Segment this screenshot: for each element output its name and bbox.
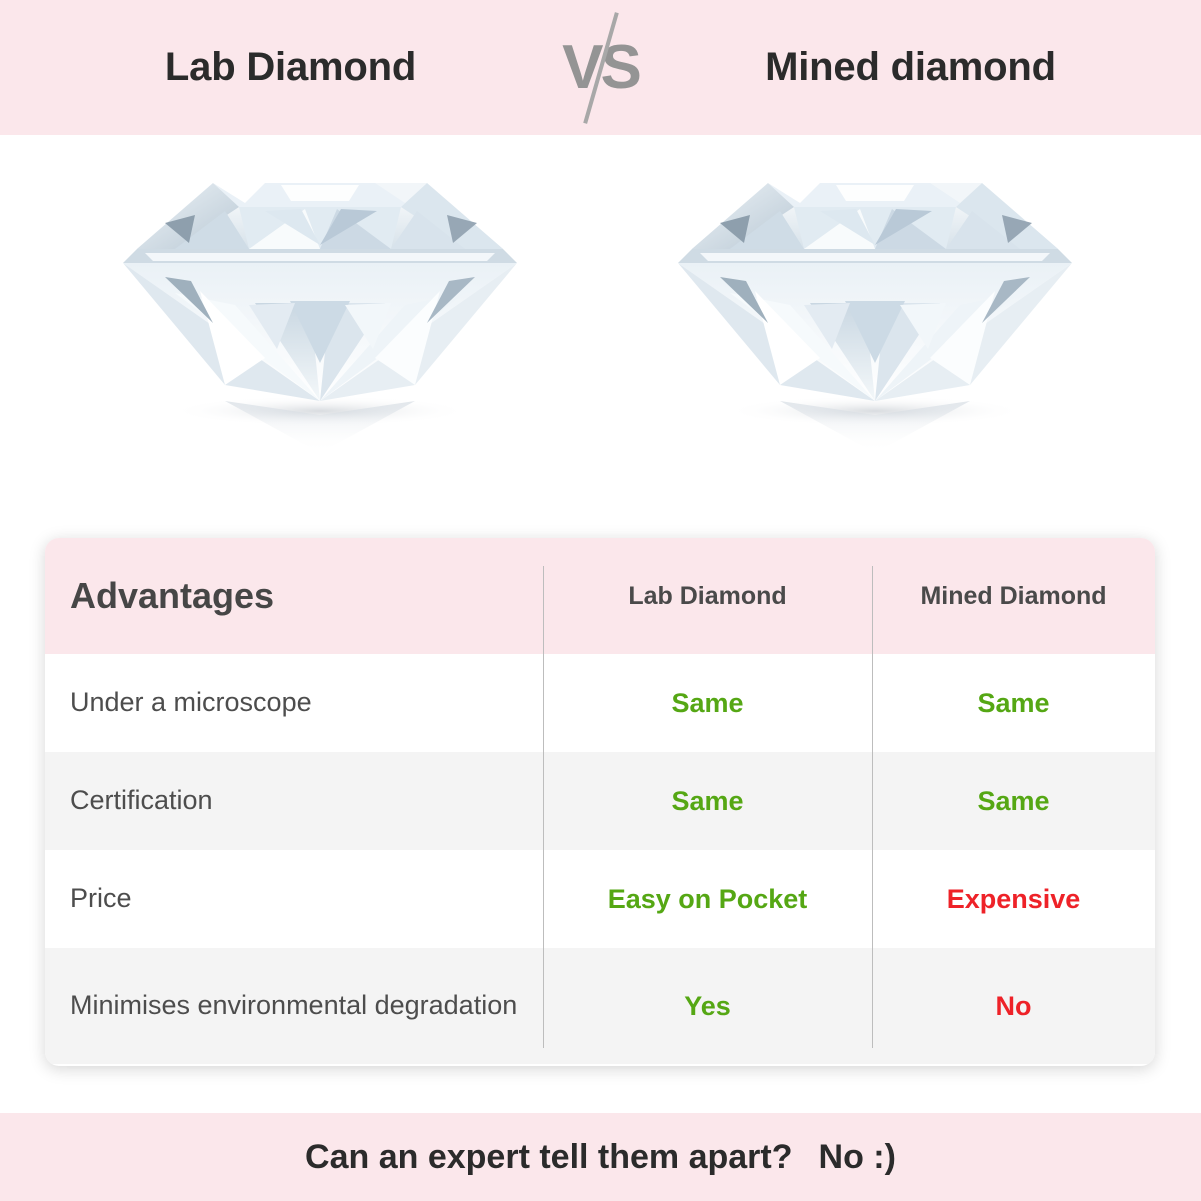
row-label-cell: Under a microscope [45, 685, 543, 721]
footer-answer: No :) [819, 1138, 896, 1177]
header-mined-label: Mined Diamond [920, 582, 1106, 610]
table-row: Price Easy on Pocket Expensive [45, 850, 1155, 948]
header-title-mined: Mined diamond [661, 45, 1161, 90]
row-label: Price [70, 883, 132, 913]
header-cell-lab: Lab Diamond [543, 582, 872, 611]
lab-diamond-image [105, 153, 535, 463]
row-mined-value: Same [977, 786, 1049, 816]
row-lab-cell: Easy on Pocket [543, 884, 872, 915]
column-divider-2 [872, 566, 873, 1048]
row-label-cell: Certification [45, 783, 543, 819]
advantages-title: Advantages [70, 575, 274, 616]
comparison-table: Advantages Lab Diamond Mined Diamond Und… [45, 538, 1155, 1066]
row-label: Minimises environmental degradation [70, 990, 517, 1020]
row-mined-cell: Same [872, 688, 1155, 719]
footer-banner: Can an expert tell them apart? No :) [0, 1113, 1201, 1201]
row-lab-cell: Same [543, 786, 872, 817]
row-label: Certification [70, 785, 213, 815]
row-lab-value: Yes [684, 991, 731, 1021]
vs-badge: VS [541, 18, 661, 118]
row-mined-value: Same [977, 688, 1049, 718]
table-header-row: Advantages Lab Diamond Mined Diamond [45, 538, 1155, 654]
header-cell-advantages: Advantages [45, 575, 543, 617]
mined-diamond-svg [660, 153, 1090, 463]
table-row: Under a microscope Same Same [45, 654, 1155, 752]
column-divider-1 [543, 566, 544, 1048]
header-cell-mined: Mined Diamond [872, 582, 1155, 611]
lab-diamond-svg [105, 153, 535, 463]
header-title-lab: Lab Diamond [41, 45, 541, 90]
row-mined-cell: Same [872, 786, 1155, 817]
row-mined-value: Expensive [947, 884, 1081, 914]
mined-diamond-image [660, 153, 1090, 463]
row-lab-value: Easy on Pocket [608, 884, 808, 914]
table-row: Certification Same Same [45, 752, 1155, 850]
row-lab-value: Same [671, 786, 743, 816]
row-label-cell: Minimises environmental degradation [45, 988, 543, 1024]
diamond-image-area [0, 135, 1201, 530]
header-banner: Lab Diamond VS Mined diamond [0, 0, 1201, 135]
header-inner: Lab Diamond VS Mined diamond [0, 18, 1201, 118]
row-mined-cell: Expensive [872, 884, 1155, 915]
footer-question: Can an expert tell them apart? [305, 1138, 792, 1177]
row-label: Under a microscope [70, 687, 312, 717]
row-mined-cell: No [872, 991, 1155, 1022]
table-row: Minimises environmental degradation Yes … [45, 948, 1155, 1064]
row-lab-value: Same [671, 688, 743, 718]
row-lab-cell: Same [543, 688, 872, 719]
row-mined-value: No [996, 991, 1032, 1021]
row-lab-cell: Yes [543, 991, 872, 1022]
header-lab-label: Lab Diamond [628, 582, 786, 610]
row-label-cell: Price [45, 881, 543, 917]
